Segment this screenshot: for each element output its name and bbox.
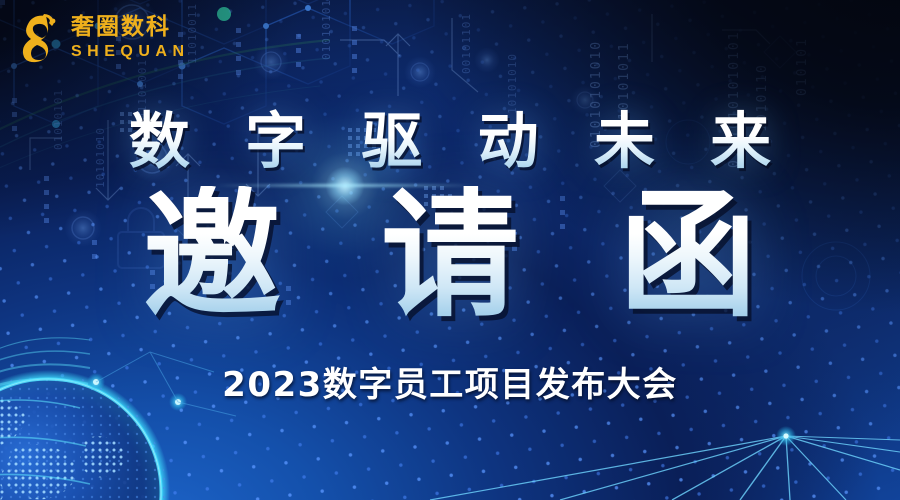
logo-text-group: 奢圈数科 SHEQUAN bbox=[71, 16, 190, 60]
headline-text: 数 字 驱 动 未 来 bbox=[0, 108, 900, 176]
invitation-poster: 01010101 10101010 01101001 11010011 0101… bbox=[0, 0, 900, 500]
logo-english-name: SHEQUAN bbox=[71, 44, 190, 60]
shequan-emblem-icon bbox=[16, 12, 62, 64]
main-title-text: 邀 请 函 bbox=[0, 186, 900, 327]
subtitle-text: 2023数字员工项目发布大会 bbox=[0, 357, 900, 406]
brand-logo[interactable]: 奢圈数科 SHEQUAN bbox=[16, 12, 190, 64]
logo-chinese-name: 奢圈数科 bbox=[71, 16, 190, 39]
